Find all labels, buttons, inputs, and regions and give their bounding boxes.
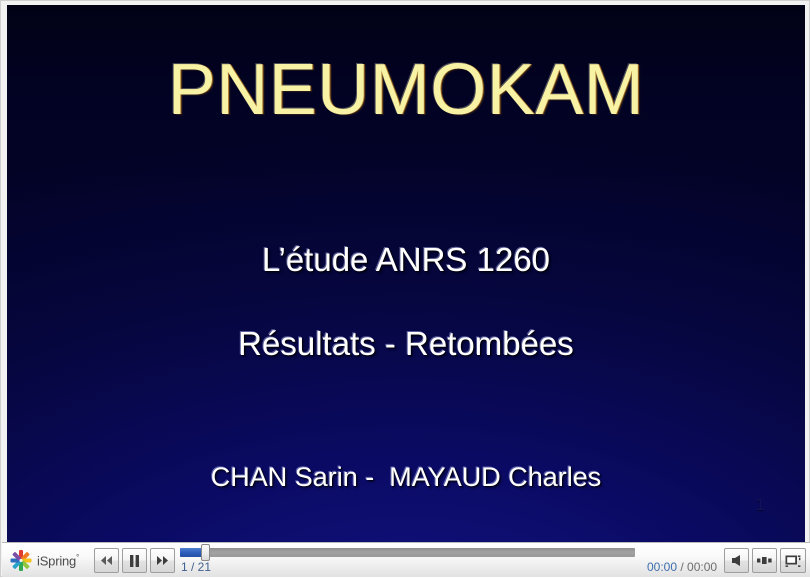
slide-page-number: 1 [756,495,765,515]
seek-track[interactable] [180,548,635,557]
slide-authors: CHAN Sarin - MAYAUD Charles [7,463,805,491]
fullscreen-icon [785,554,801,568]
volume-icon [730,554,744,567]
forward-button[interactable] [150,548,175,573]
seek-slider[interactable]: 1 / 21 [180,543,635,578]
slide-canvas[interactable]: PNEUMOKAM L’étude ANRS 1260 Résultats - … [7,5,805,542]
volume-button[interactable] [724,548,749,573]
seek-handle[interactable] [201,544,210,561]
slide-counter-label: 1 / 21 [181,560,211,574]
player-control-bar: iSpring° [2,542,810,577]
ispring-pinwheel-icon [9,549,33,573]
rewind-button[interactable] [94,548,119,573]
fullscreen-button[interactable] [780,548,806,573]
ispring-presentation-player: PNEUMOKAM L’étude ANRS 1260 Résultats - … [0,0,810,577]
pause-icon [129,555,140,567]
time-readout: 00:00 / 00:00 [647,560,717,574]
pause-button[interactable] [122,548,147,573]
ispring-branding[interactable]: iSpring° [9,547,97,574]
slides-panel-button[interactable] [752,548,777,573]
seek-progress-fill [180,548,203,557]
slide-subtitle-study: L’étude ANRS 1260 [7,243,805,278]
slide-title: PNEUMOKAM [7,53,805,129]
forward-icon [156,555,169,566]
rewind-icon [100,555,113,566]
time-current: 00:00 [647,560,677,574]
slide-subtitle-results: Résultats - Retombées [7,327,805,362]
brand-name-label: iSpring° [37,553,79,568]
time-separator: / [677,560,687,574]
time-total: 00:00 [687,560,717,574]
slides-icon [757,557,772,564]
